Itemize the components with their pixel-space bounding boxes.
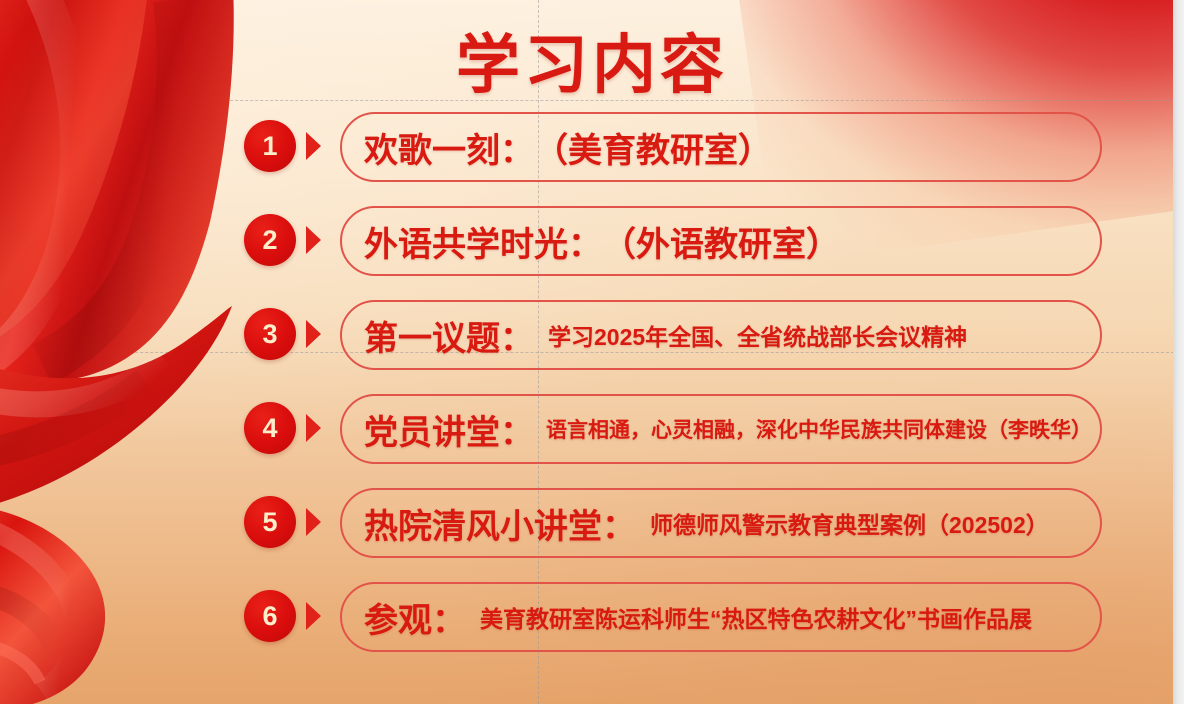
item-number-badge: 5 [244,496,296,548]
item-pill[interactable]: 欢歌一刻： （美育教研室） [340,112,1102,182]
item-pill[interactable]: 第一议题： 学习2025年全国、全省统战部长会议精神 [340,300,1102,370]
item-lead-text: 热院清风小讲堂： [364,499,636,548]
item-number-badge: 6 [244,590,296,642]
item-tail-text: （外语教研室） [602,217,840,266]
item-number-badge: 1 [244,120,296,172]
item-pill[interactable]: 外语共学时光： （外语教研室） [340,206,1102,276]
item-number-badge: 2 [244,214,296,266]
item-tail-text: 师德师风警示教育典型案例（202502） [650,506,1049,540]
item-tail-text: 语言相通，心灵相融，深化中华民族共同体建设（李昳华） [546,414,1092,444]
item-lead-text: 第一议题： [364,311,534,360]
item-pill[interactable]: 热院清风小讲堂： 师德师风警示教育典型案例（202502） [340,488,1102,558]
item-pill[interactable]: 党员讲堂： 语言相通，心灵相融，深化中华民族共同体建设（李昳华） [340,394,1102,464]
arrow-right-icon [306,132,321,160]
list-item[interactable]: 5 热院清风小讲堂： 师德师风警示教育典型案例（202502） [0,488,1184,564]
page-title: 学习内容 [0,14,1184,106]
content-list: 1 欢歌一刻： （美育教研室） 2 外语共学时光： （外语教研室） 3 第一议题… [0,112,1184,676]
arrow-right-icon [306,508,321,536]
arrow-right-icon [306,226,321,254]
arrow-right-icon [306,602,321,630]
slide-canvas: 学习内容 1 欢歌一刻： （美育教研室） 2 外语共学时光： （外语教研室） 3… [0,0,1184,704]
item-number-badge: 4 [244,402,296,454]
list-item[interactable]: 1 欢歌一刻： （美育教研室） [0,112,1184,188]
item-tail-text: 学习2025年全国、全省统战部长会议精神 [548,318,967,352]
item-tail-text: （美育教研室） [534,123,772,172]
list-item[interactable]: 6 参观： 美育教研室陈运科师生“热区特色农耕文化”书画作品展 [0,582,1184,658]
item-lead-text: 外语共学时光： [364,217,602,266]
list-item[interactable]: 4 党员讲堂： 语言相通，心灵相融，深化中华民族共同体建设（李昳华） [0,394,1184,470]
list-item[interactable]: 3 第一议题： 学习2025年全国、全省统战部长会议精神 [0,300,1184,376]
item-tail-text: 美育教研室陈运科师生“热区特色农耕文化”书画作品展 [480,600,1032,634]
item-pill[interactable]: 参观： 美育教研室陈运科师生“热区特色农耕文化”书画作品展 [340,582,1102,652]
item-lead-text: 参观： [364,593,466,642]
item-number-badge: 3 [244,308,296,360]
arrow-right-icon [306,414,321,442]
arrow-right-icon [306,320,321,348]
list-item[interactable]: 2 外语共学时光： （外语教研室） [0,206,1184,282]
item-lead-text: 欢歌一刻： [364,123,534,172]
item-lead-text: 党员讲堂： [364,405,534,454]
